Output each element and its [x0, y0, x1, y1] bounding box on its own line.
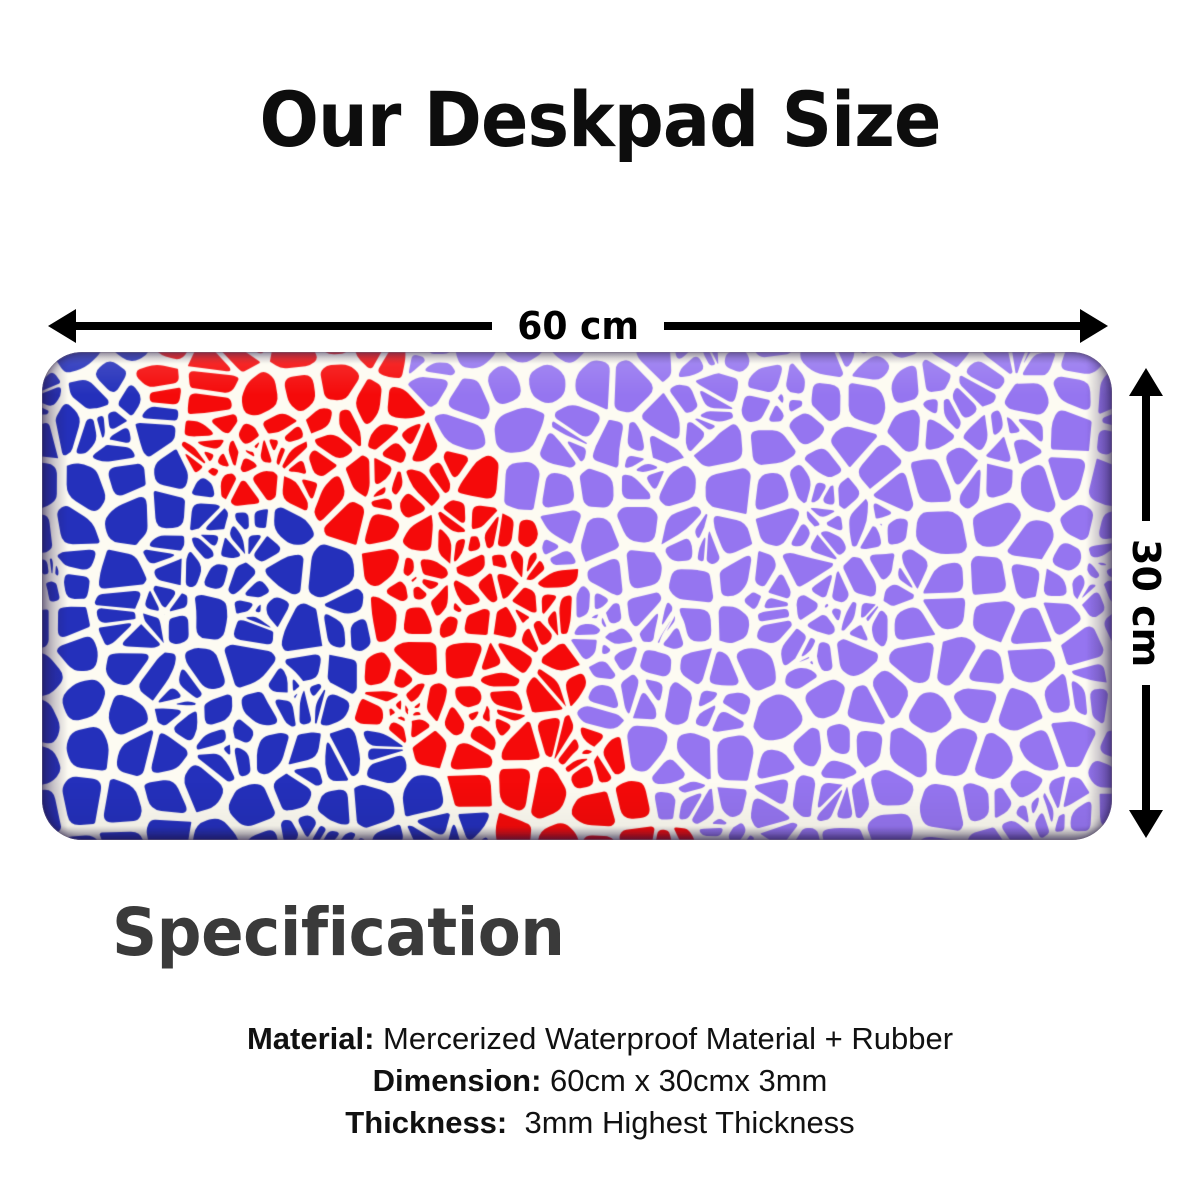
spec-key-material: Material: [247, 1021, 374, 1056]
spec-row-material: Material: Mercerized Waterproof Material… [0, 1018, 1200, 1060]
height-dimension-indicator: 30 cm [1124, 368, 1168, 838]
arrow-head-right-icon [1080, 309, 1108, 343]
spec-value-dimension: 60cm x 30cmx 3mm [541, 1063, 827, 1098]
width-dimension-indicator: 60 cm [48, 300, 1108, 352]
specification-heading: Specification [112, 894, 564, 972]
deskpad-product-image [42, 352, 1112, 840]
spec-row-thickness: Thickness: 3mm Highest Thickness [0, 1102, 1200, 1144]
width-dimension-label: 60 cm [496, 307, 660, 345]
page-title: Our Deskpad Size [48, 76, 1152, 164]
spec-value-thickness: 3mm Highest Thickness [507, 1105, 854, 1140]
dimension-line-top [1142, 396, 1150, 521]
dimension-line-bottom [1142, 685, 1150, 810]
dimension-line-right [664, 322, 1080, 330]
spec-row-dimension: Dimension: 60cm x 30cmx 3mm [0, 1060, 1200, 1102]
spec-value-material: Mercerized Waterproof Material + Rubber [374, 1021, 953, 1056]
deskpad-mosaic-pattern [42, 352, 1112, 840]
specification-list: Material: Mercerized Waterproof Material… [0, 1018, 1200, 1144]
arrow-head-down-icon [1129, 810, 1163, 838]
spec-key-dimension: Dimension: [373, 1063, 542, 1098]
arrow-head-left-icon [48, 309, 76, 343]
spec-key-thickness: Thickness: [345, 1105, 507, 1140]
height-dimension-label: 30 cm [1126, 521, 1166, 685]
dimension-line-left [76, 322, 492, 330]
arrow-head-up-icon [1129, 368, 1163, 396]
